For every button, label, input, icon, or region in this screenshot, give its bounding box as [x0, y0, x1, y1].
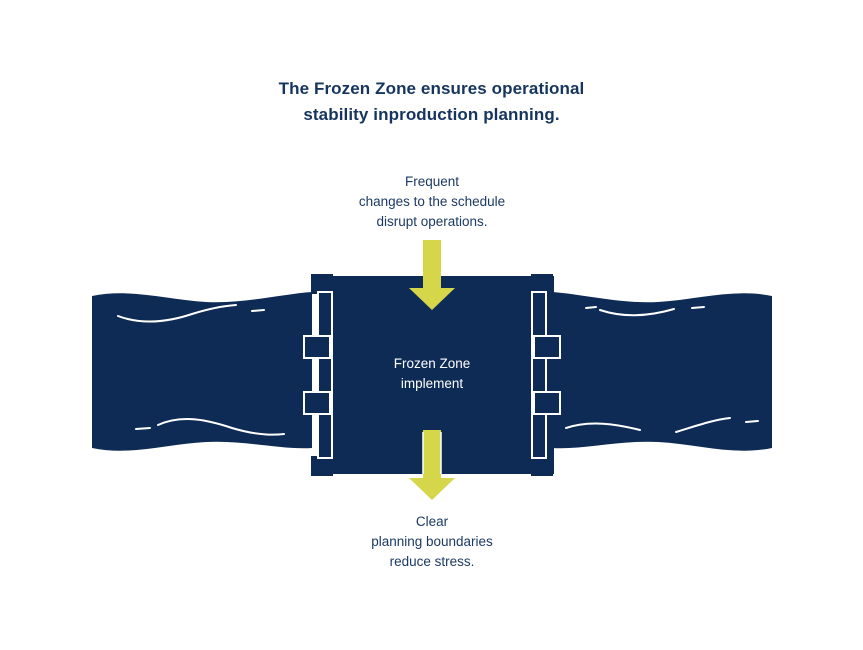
page-title-line-1: The Frozen Zone ensures operational [279, 79, 585, 98]
ribbon-left-body [92, 292, 312, 451]
clamp-right-bar [532, 292, 546, 458]
caption-top: Frequent changes to the schedule disrupt… [332, 172, 532, 232]
clamp-right-clip-lower [534, 392, 560, 414]
page-title-line-2: stability inproduction planning. [303, 105, 559, 124]
clamp-right-clip-upper [534, 336, 560, 358]
ribbon-banner-right [552, 292, 772, 451]
clamp-left-clip-upper [304, 336, 330, 358]
ribbon-right-body [552, 292, 772, 451]
infographic-canvas: Frozen Zone implement The Frozen Zone en… [0, 0, 863, 650]
caption-bottom: Clear planning boundaries reduce stress. [332, 512, 532, 572]
caption-bottom-line-3: reduce stress. [332, 552, 532, 572]
ribbon-banner-left [92, 292, 312, 451]
caption-bottom-line-2: planning boundaries [332, 532, 532, 552]
clamp-left-clip-lower [304, 392, 330, 414]
frozen-zone-box [330, 276, 554, 474]
caption-top-line-3: disrupt operations. [332, 212, 532, 232]
ribbon-right-highlight-top-dash [586, 307, 596, 308]
caption-bottom-line-1: Clear [332, 512, 532, 532]
caption-top-line-2: changes to the schedule [332, 192, 532, 212]
ribbon-right-highlight-top-dash2 [692, 307, 704, 308]
ribbon-left-highlight-bottom-dash [136, 428, 150, 429]
ribbon-right-highlight-bottom-dash [746, 421, 758, 422]
frozen-zone-label-line2: implement [401, 376, 464, 391]
caption-top-line-1: Frequent [332, 172, 532, 192]
frozen-zone-label-line1: Frozen Zone [394, 356, 471, 371]
clamp-left-bar [318, 292, 332, 458]
page-title: The Frozen Zone ensures operational stab… [200, 76, 663, 128]
ribbon-left-highlight-top-dash [252, 310, 264, 311]
